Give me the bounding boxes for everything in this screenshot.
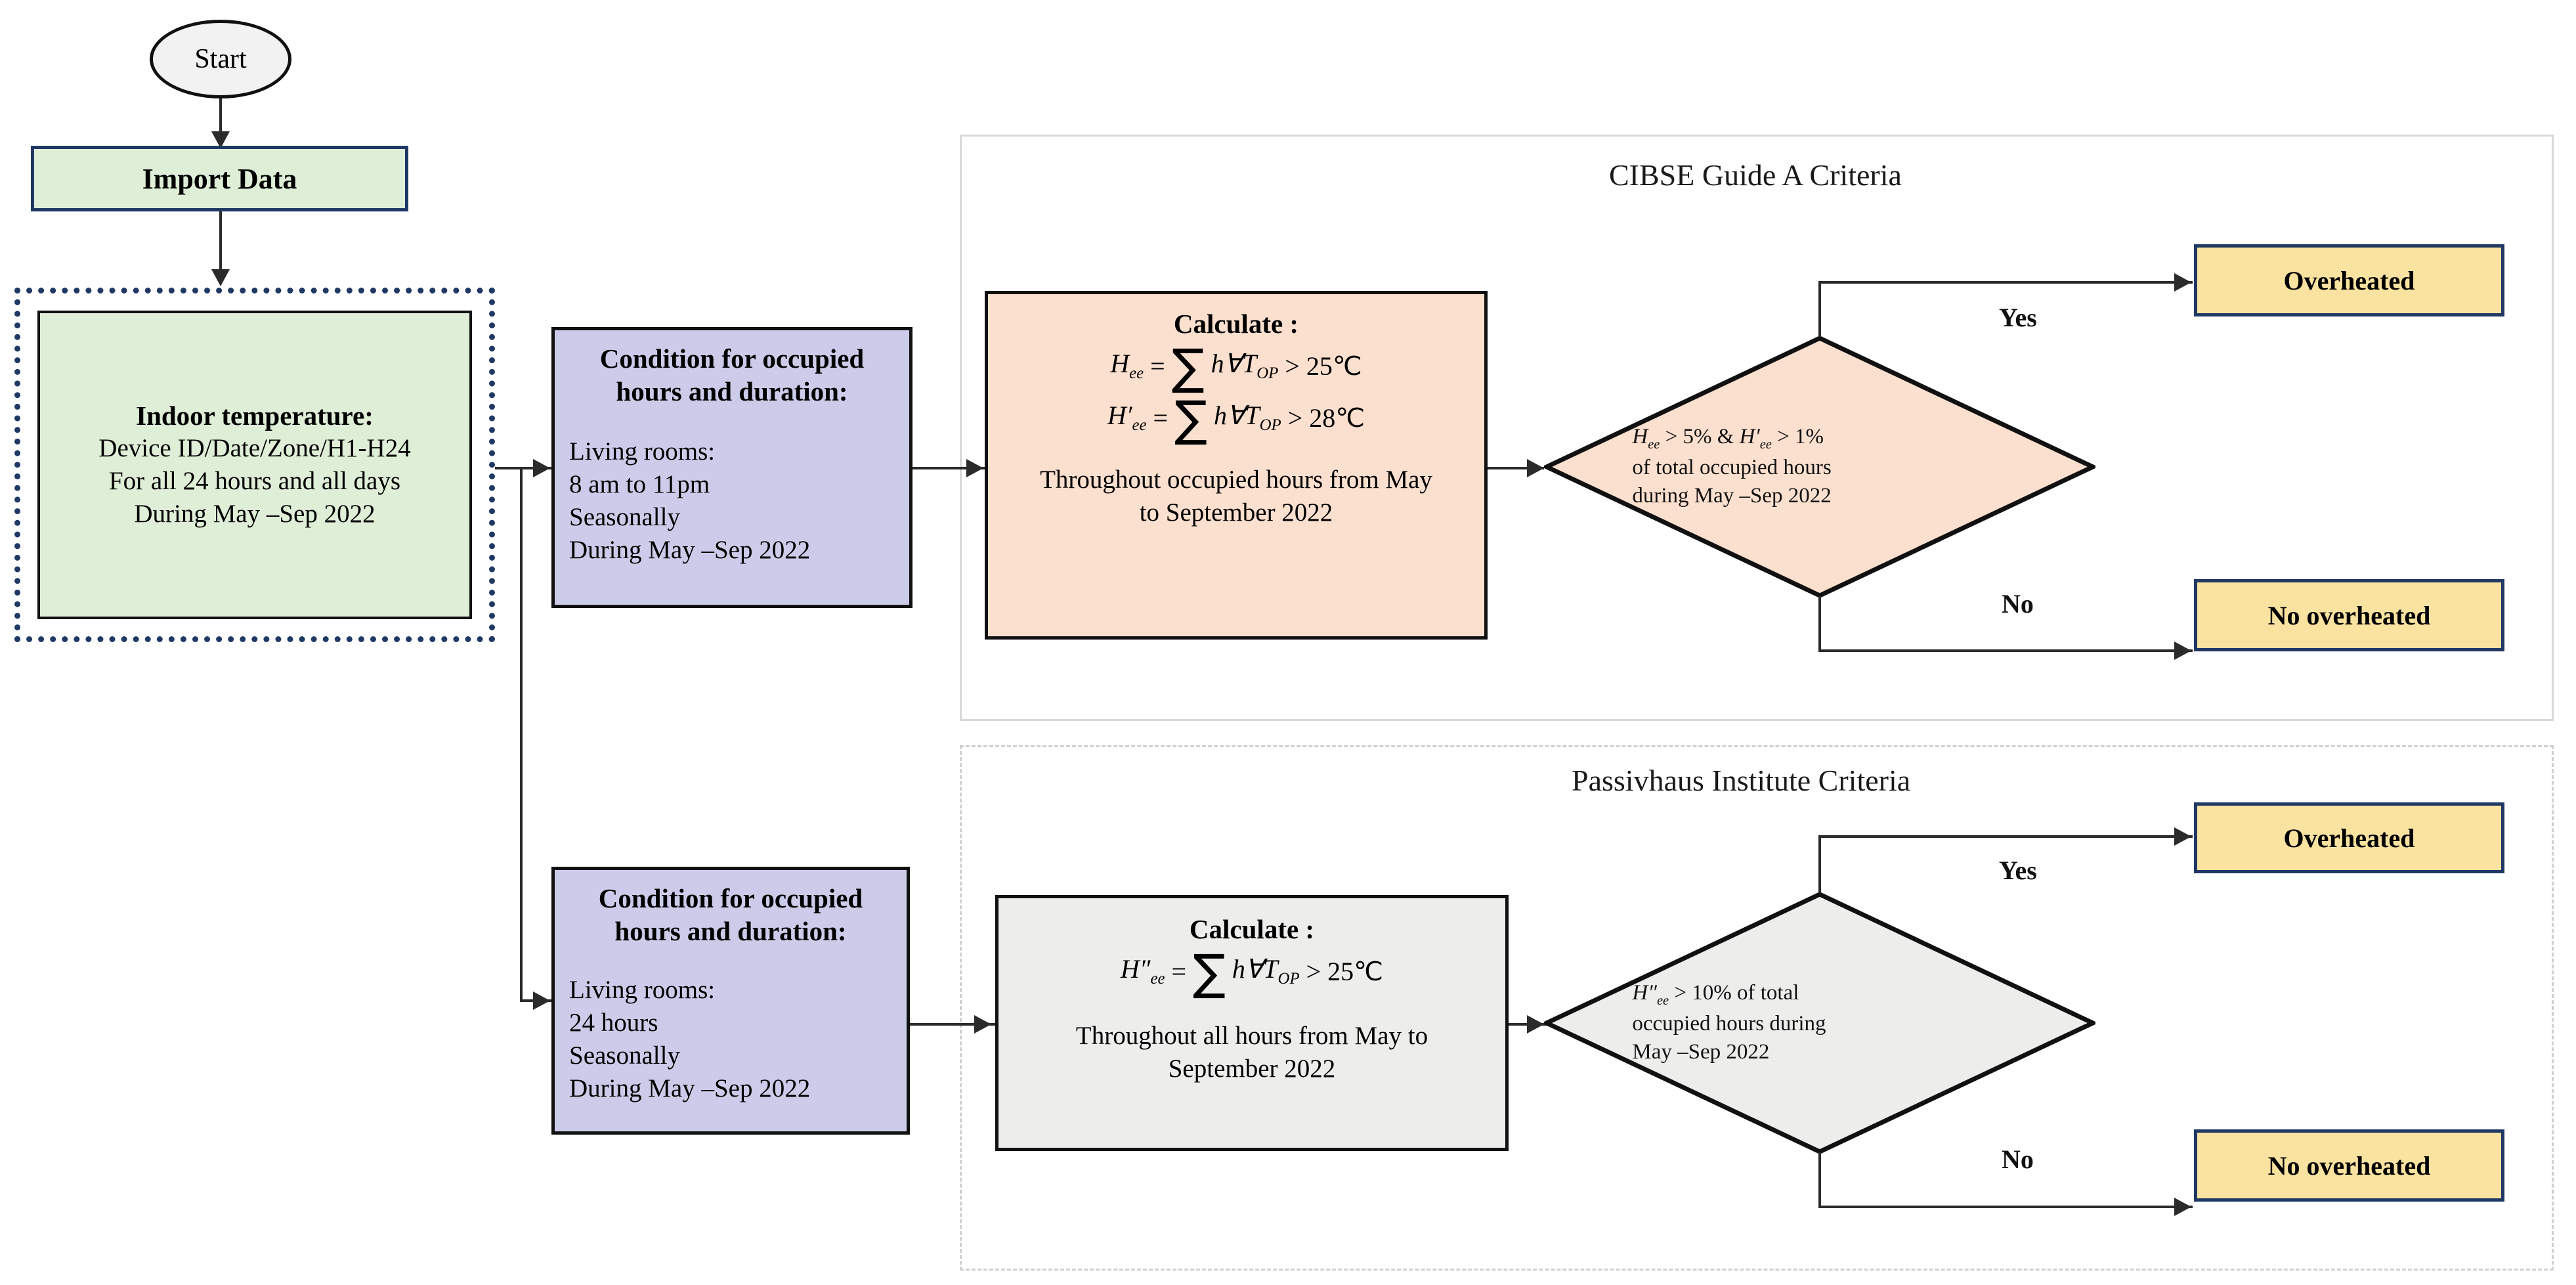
cibse-decision-line-3: during May –Sep 2022	[1632, 482, 2007, 511]
start-label: Start	[194, 43, 246, 75]
ph-yes-label: Yes	[1999, 855, 2037, 886]
cibse-section-title: CIBSE Guide A Criteria	[1609, 158, 1902, 192]
arrowhead-ph-yes	[2174, 827, 2191, 846]
ph-overheated-label: Overheated	[2284, 823, 2415, 854]
arrowhead-ph-condition-to-calc	[974, 1015, 991, 1034]
connector-cibse-no-horizontal	[1818, 649, 2193, 652]
connector-ph-no-horizontal	[1818, 1206, 2193, 1208]
cibse-no-overheated-label: No overheated	[2268, 600, 2431, 631]
cibse-condition-line-2: 8 am to 11pm	[569, 468, 895, 501]
cibse-decision-text: Hee > 5% & H′ee > 1% of total occupied h…	[1632, 423, 2007, 511]
indoor-line-1: Device ID/Date/Zone/H1-H24	[52, 432, 458, 465]
import-data-label: Import Data	[142, 162, 297, 196]
passivhaus-calculation-node[interactable]: Calculate : H″ee = ∑ h∀TOP > 25℃ Through…	[995, 895, 1509, 1151]
arrowhead-cibse-calc-to-decision	[1527, 459, 1544, 477]
cibse-calc-footer-line-1: Throughout occupied hours from May	[997, 464, 1475, 496]
pf1-cmp: > 25℃	[1306, 959, 1383, 985]
cibse-overheated-node[interactable]: Overheated	[2194, 244, 2504, 316]
cibse-formula-1: Hee = ∑ h∀TOP > 25℃	[1110, 347, 1362, 385]
ph-no-overheated-label: No overheated	[2268, 1150, 2431, 1181]
ph-no-overheated-node[interactable]: No overheated	[2194, 1129, 2504, 1202]
cibse-condition-line-1: Living rooms:	[569, 435, 895, 468]
connector-ph-yes-horizontal	[1818, 835, 2193, 838]
ph-decision-line-3: May –Sep 2022	[1632, 1038, 2007, 1067]
ph-no-label: No	[2002, 1144, 2034, 1175]
f2-lhs-sub: ee	[1132, 416, 1147, 434]
pf1-lhs-sub: ee	[1150, 970, 1165, 988]
indoor-temperature-node[interactable]: Indoor temperature: Device ID/Date/Zone/…	[37, 311, 472, 619]
cibse-yes-label: Yes	[1999, 302, 2037, 333]
ph-decision-line-2: occupied hours during	[1632, 1010, 2007, 1039]
arrowhead-indoor-to-cibse-condition	[533, 459, 550, 477]
ph-condition-line-1: Living rooms:	[569, 974, 892, 1007]
arrowhead-cibse-condition-to-calc	[966, 459, 983, 477]
arrowhead-cibse-yes	[2174, 273, 2191, 292]
ph-condition-line-4: During May –Sep 2022	[569, 1072, 892, 1105]
cibse-decision-line-1: Hee > 5% & H′ee > 1%	[1632, 423, 2007, 454]
passivhaus-section-title: Passivhaus Institute Criteria	[1572, 763, 1910, 798]
passivhaus-decision-text: H″ee > 10% of total occupied hours durin…	[1632, 979, 2007, 1067]
connector-cibse-yes-horizontal	[1818, 281, 2193, 284]
arrowhead-indoor-to-ph-condition	[533, 991, 550, 1010]
f1-rhs-sub: OP	[1256, 364, 1278, 382]
f1-lhs: H	[1110, 349, 1129, 378]
f1-cmp: > 25℃	[1285, 353, 1362, 380]
cibse-decision-node[interactable]: Hee > 5% & H′ee > 1% of total occupied h…	[1544, 336, 2095, 598]
f2-prime: ′	[1127, 401, 1132, 430]
ph-formula-1: H″ee = ∑ h∀TOP > 25℃	[1121, 952, 1383, 991]
arrowhead-ph-no	[2174, 1198, 2191, 1216]
cibse-calc-footer-line-2: to September 2022	[997, 496, 1475, 529]
connector-ph-no-vertical	[1818, 1152, 1821, 1208]
cibse-no-label: No	[2002, 588, 2034, 619]
cibse-formula-2: H′ee = ∑ h∀TOP > 28℃	[1107, 399, 1365, 437]
cibse-decision-line-2: of total occupied hours	[1632, 454, 2007, 483]
ph-decision-line-1: H″ee > 10% of total	[1632, 979, 2007, 1010]
cibse-condition-title-line-2: hours and duration:	[569, 375, 895, 408]
pf1-prime: ″	[1140, 954, 1151, 984]
import-data-node[interactable]: Import Data	[31, 146, 408, 211]
start-node[interactable]: Start	[150, 20, 291, 98]
indoor-title: Indoor temperature:	[52, 399, 458, 432]
arrowhead-ph-calc-to-decision	[1527, 1015, 1544, 1034]
cibse-condition-line-4: During May –Sep 2022	[569, 534, 895, 567]
passivhaus-condition-node[interactable]: Condition for occupied hours and duratio…	[551, 867, 910, 1135]
sigma-icon: ∑	[1193, 953, 1226, 992]
cibse-calculation-node[interactable]: Calculate : Hee = ∑ h∀TOP > 25℃ H′ee = ∑…	[985, 291, 1488, 640]
f2-rhs: h∀T	[1214, 401, 1260, 430]
arrowhead-cibse-no	[2174, 642, 2191, 660]
f1-lhs-sub: ee	[1129, 364, 1144, 382]
cibse-no-overheated-node[interactable]: No overheated	[2194, 579, 2504, 651]
ph-calc-heading: Calculate :	[1008, 913, 1496, 946]
pf1-rhs: h∀T	[1232, 954, 1278, 984]
cibse-condition-line-3: Seasonally	[569, 501, 895, 534]
ph-calc-footer-line-1: Throughout all hours from May to	[1008, 1020, 1496, 1053]
connector-indoor-vertical	[520, 467, 523, 1001]
ph-condition-line-2: 24 hours	[569, 1007, 892, 1039]
flowchart-canvas: CIBSE Guide A Criteria Passivhaus Instit…	[0, 0, 2576, 1285]
pf1-lhs: H	[1121, 954, 1140, 984]
f2-lhs: H	[1107, 401, 1127, 430]
indoor-line-2: For all 24 hours and all days	[52, 465, 458, 498]
sigma-icon: ∑	[1172, 348, 1205, 387]
pf1-rhs-sub: OP	[1278, 970, 1300, 988]
cibse-calc-heading: Calculate :	[997, 307, 1475, 340]
cibse-condition-node[interactable]: Condition for occupied hours and duratio…	[551, 327, 912, 608]
ph-condition-title-line-1: Condition for occupied	[569, 882, 892, 915]
arrowhead-import-to-indoor	[211, 269, 230, 286]
passivhaus-decision-node[interactable]: H″ee > 10% of total occupied hours durin…	[1544, 892, 2095, 1154]
connector-cibse-yes-vertical	[1818, 281, 1821, 337]
f2-rhs-sub: OP	[1260, 416, 1281, 434]
cibse-overheated-label: Overheated	[2284, 265, 2415, 296]
ph-condition-line-3: Seasonally	[569, 1039, 892, 1072]
connector-cibse-no-vertical	[1818, 596, 1821, 652]
f1-rhs: h∀T	[1211, 349, 1257, 378]
ph-overheated-node[interactable]: Overheated	[2194, 802, 2504, 873]
connector-ph-yes-vertical	[1818, 835, 1821, 893]
ph-calc-footer-line-2: September 2022	[1008, 1053, 1496, 1085]
cibse-condition-title-line-1: Condition for occupied	[569, 342, 895, 375]
f2-cmp: > 28℃	[1288, 405, 1365, 431]
ph-condition-title-line-2: hours and duration:	[569, 915, 892, 947]
sigma-icon: ∑	[1174, 400, 1207, 439]
indoor-line-3: During May –Sep 2022	[52, 498, 458, 531]
